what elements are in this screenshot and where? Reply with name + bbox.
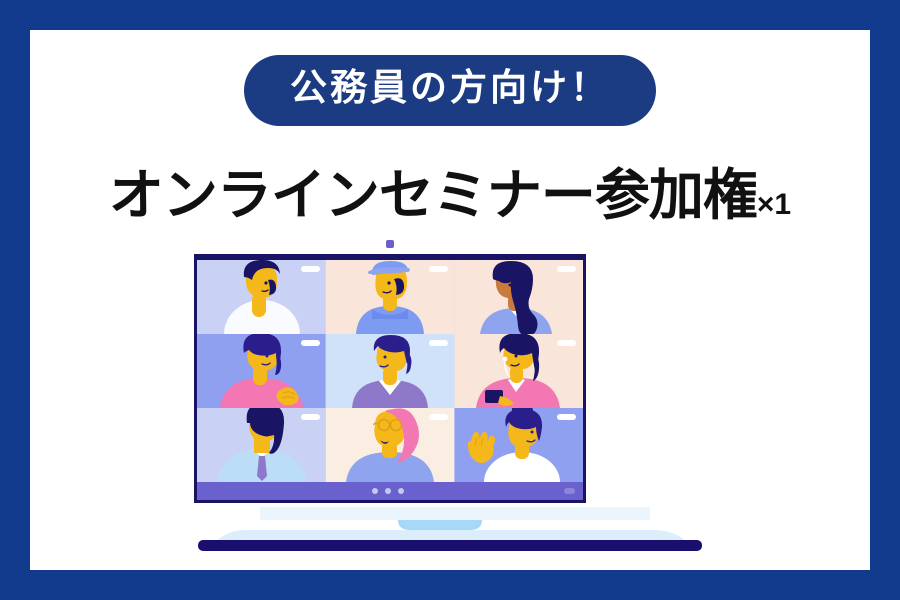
tile-label-pill [429,266,448,272]
tile-label-pill [301,414,320,420]
tile-label-pill [557,414,576,420]
laptop-bottom-bar [198,540,702,551]
participant-tile-2[interactable] [326,260,455,334]
toolbar-dot [398,488,404,494]
page-title-quantity: ×1 [757,190,791,220]
tile-label-pill [557,266,576,272]
badge-container: 公務員の方向け！ [30,55,870,126]
tile-label-pill [301,266,320,272]
laptop-trackpad [398,520,482,530]
laptop-base [198,507,702,551]
participant-tile-8[interactable] [326,408,455,482]
participant-tile-7[interactable] [197,403,326,482]
participant-tile-4[interactable] [197,333,326,408]
tile-label-pill [557,340,576,346]
audience-badge: 公務員の方向け！ [244,55,656,126]
screen-toolbar[interactable] [197,482,583,500]
webcam-dot-icon [386,240,394,248]
participant-tile-1[interactable] [197,260,326,334]
tile-label-pill [301,340,320,346]
page-title: オンラインセミナー参加権 [109,168,757,223]
online-meeting-illustration [180,235,720,565]
tile-label-pill [429,414,448,420]
participant-tile-5[interactable] [326,334,455,408]
toolbar-dot [372,488,378,494]
heading-container: オンラインセミナー参加権×1 [30,168,870,223]
tile-label-pill [429,340,448,346]
toolbar-pill [564,488,575,494]
toolbar-dot [385,488,391,494]
participant-tile-6[interactable] [454,333,583,408]
content-card: 公務員の方向け！ オンラインセミナー参加権×1 [30,30,870,570]
page-border: 公務員の方向け！ オンラインセミナー参加権×1 [0,0,900,600]
participant-tile-9[interactable] [454,401,583,482]
participant-tile-3[interactable] [454,260,583,336]
